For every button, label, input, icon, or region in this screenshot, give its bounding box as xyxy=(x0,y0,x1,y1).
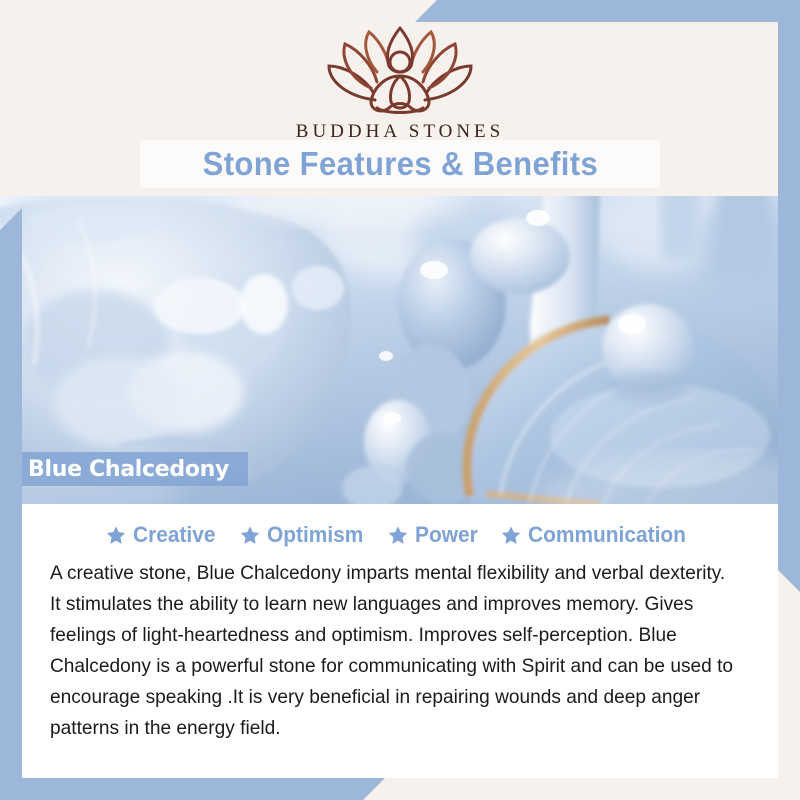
brand-logo: BUDDHA STONES xyxy=(0,22,800,143)
lotus-meditation-icon xyxy=(0,22,800,117)
stone-name-label: Blue Chalcedony xyxy=(14,457,229,482)
decorative-ribbon-top-right xyxy=(415,0,800,22)
feature-list: Creative Optimism Power Communication xyxy=(22,514,778,554)
star-icon xyxy=(388,525,408,545)
page-title-plate: Stone Features & Benefits xyxy=(140,140,660,188)
decorative-edge-right xyxy=(778,0,800,592)
decorative-ribbon-bottom-left xyxy=(0,778,385,800)
stone-description: A creative stone, Blue Chalcedony impart… xyxy=(50,558,736,744)
feature-label: Power xyxy=(415,522,478,548)
header: BUDDHA STONES Stone Features & Benefits xyxy=(0,0,800,196)
feature-item-power: Power xyxy=(388,522,481,548)
feature-item-communication: Communication xyxy=(501,522,694,548)
content-panel: Creative Optimism Power Communication xyxy=(22,504,778,778)
feature-label: Creative xyxy=(133,522,216,548)
star-icon xyxy=(501,525,521,545)
decorative-edge-left xyxy=(0,208,22,800)
feature-label: Communication xyxy=(528,522,686,548)
star-icon xyxy=(106,525,126,545)
star-icon xyxy=(240,525,260,545)
feature-item-creative: Creative xyxy=(106,522,220,548)
feature-label: Optimism xyxy=(267,522,363,548)
poster: BUDDHA STONES Stone Features & Benefits xyxy=(0,0,800,800)
feature-item-optimism: Optimism xyxy=(240,522,368,548)
page-title: Stone Features & Benefits xyxy=(202,145,598,183)
stone-name-badge: Blue Chalcedony xyxy=(14,452,248,486)
